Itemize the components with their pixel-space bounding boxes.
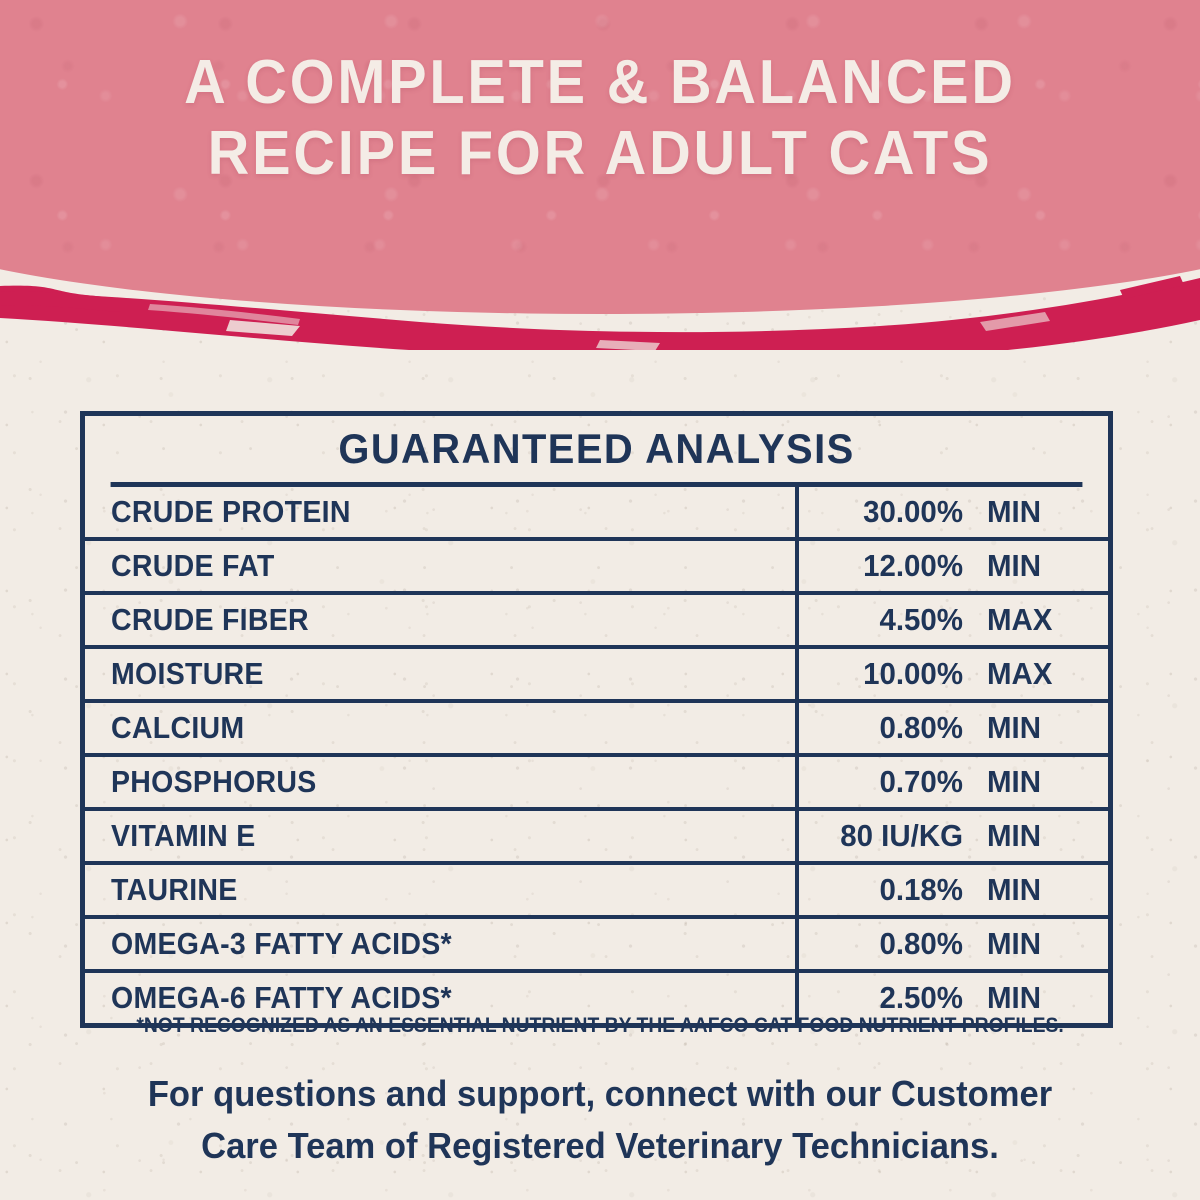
nutrient-qualifier: MIN bbox=[987, 872, 1071, 908]
nutrient-amount: 0.70% bbox=[807, 764, 963, 800]
table-row: CRUDE FAT 12.00% MIN bbox=[85, 541, 1108, 595]
table-row: CALCIUM 0.80% MIN bbox=[85, 703, 1108, 757]
nutrient-value: 0.18% MIN bbox=[799, 865, 1108, 915]
nutrient-amount: 4.50% bbox=[807, 602, 963, 638]
nutrient-amount: 12.00% bbox=[807, 548, 963, 584]
nutrient-value: 4.50% MAX bbox=[799, 595, 1108, 645]
nutrient-qualifier: MIN bbox=[987, 710, 1071, 746]
nutrient-amount: 0.18% bbox=[807, 872, 963, 908]
nutrient-amount: 10.00% bbox=[807, 656, 963, 692]
guaranteed-analysis-table: GUARANTEED ANALYSIS CRUDE PROTEIN 30.00%… bbox=[80, 411, 1113, 1028]
nutrient-qualifier: MIN bbox=[987, 926, 1071, 962]
table-title: GUARANTEED ANALYSIS bbox=[111, 416, 1083, 487]
nutrient-amount: 0.80% bbox=[807, 926, 963, 962]
table-row: CRUDE PROTEIN 30.00% MIN bbox=[85, 487, 1108, 541]
nutrient-amount: 0.80% bbox=[807, 710, 963, 746]
nutrient-label: CRUDE FIBER bbox=[85, 595, 799, 645]
table-row: CRUDE FIBER 4.50% MAX bbox=[85, 595, 1108, 649]
table-row: VITAMIN E 80 IU/KG MIN bbox=[85, 811, 1108, 865]
nutrient-value: 12.00% MIN bbox=[799, 541, 1108, 591]
nutrient-qualifier: MAX bbox=[987, 656, 1071, 692]
nutrient-value: 30.00% MIN bbox=[799, 487, 1108, 537]
nutrient-qualifier: MIN bbox=[987, 548, 1071, 584]
nutrient-qualifier: MAX bbox=[987, 602, 1071, 638]
nutrient-value: 0.70% MIN bbox=[799, 757, 1108, 807]
aafco-footnote: *NOT RECOGNIZED AS AN ESSENTIAL NUTRIENT… bbox=[0, 1014, 1200, 1038]
nutrient-value: 80 IU/KG MIN bbox=[799, 811, 1108, 861]
nutrient-amount: 2.50% bbox=[807, 980, 963, 1016]
nutrient-qualifier: MIN bbox=[987, 818, 1071, 854]
table-row: MOISTURE 10.00% MAX bbox=[85, 649, 1108, 703]
nutrient-label: CRUDE FAT bbox=[85, 541, 799, 591]
nutrient-label: VITAMIN E bbox=[85, 811, 799, 861]
nutrient-label: CRUDE PROTEIN bbox=[85, 487, 799, 537]
nutrient-label: MOISTURE bbox=[85, 649, 799, 699]
nutrient-label: TAURINE bbox=[85, 865, 799, 915]
table-row: PHOSPHORUS 0.70% MIN bbox=[85, 757, 1108, 811]
customer-care-message: For questions and support, connect with … bbox=[82, 1068, 1119, 1172]
nutrient-value: 0.80% MIN bbox=[799, 703, 1108, 753]
nutrient-label: OMEGA-3 FATTY ACIDS* bbox=[85, 919, 799, 969]
nutrient-amount: 30.00% bbox=[807, 494, 963, 530]
nutrient-value: 0.80% MIN bbox=[799, 919, 1108, 969]
nutrient-value: 10.00% MAX bbox=[799, 649, 1108, 699]
nutrient-qualifier: MIN bbox=[987, 980, 1071, 1016]
product-label-page: A COMPLETE & BALANCED RECIPE FOR ADULT C… bbox=[0, 0, 1200, 1200]
table-row: TAURINE 0.18% MIN bbox=[85, 865, 1108, 919]
nutrient-amount: 80 IU/KG bbox=[807, 818, 963, 854]
table-row: OMEGA-3 FATTY ACIDS* 0.80% MIN bbox=[85, 919, 1108, 973]
nutrient-qualifier: MIN bbox=[987, 764, 1071, 800]
nutrient-qualifier: MIN bbox=[987, 494, 1071, 530]
page-title: A COMPLETE & BALANCED RECIPE FOR ADULT C… bbox=[42, 48, 1158, 189]
nutrient-label: CALCIUM bbox=[85, 703, 799, 753]
nutrient-label: PHOSPHORUS bbox=[85, 757, 799, 807]
